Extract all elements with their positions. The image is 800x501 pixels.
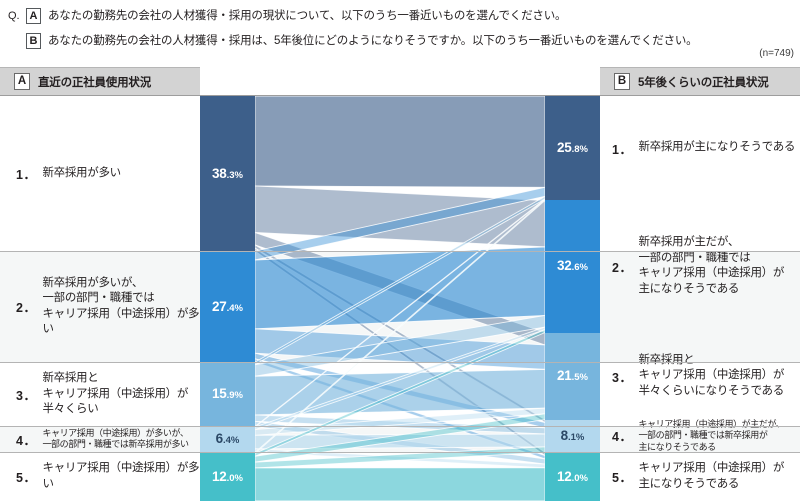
question-block: Q. A あなたの勤務先の会社の人材獲得・採用の現状について、以下のうち一番近い… [0, 0, 800, 64]
category-text-line: 半々くらい [42, 402, 188, 418]
question-row-a: Q. A あなたの勤務先の会社の人材獲得・採用の現状について、以下のうち一番近い… [8, 8, 566, 25]
category-text: キャリア採用（中途採用）が主になりそうである [638, 461, 784, 492]
category-text-line: 主になりそうである [638, 282, 784, 298]
category-text-line: キャリア採用（中途採用）が [638, 461, 784, 477]
chart-area: 38.3%27.4%15.9%6.4%12.0% 25.8%32.6%21.5%… [0, 95, 800, 501]
flow-ribbon-5-to-5 [255, 468, 545, 501]
category-label-left-4: 4．キャリア採用（中途採用）が多いが、一部の部門・職種では新卒採用が多い [16, 426, 200, 452]
bar-left-4[interactable]: 6.4% [200, 426, 255, 452]
question-text-a: あなたの勤務先の会社の人材獲得・採用の現状について、以下のうち一番近いものを選ん… [48, 8, 566, 24]
category-label-right-2: 2．新卒採用が主だが、一部の部門・職種ではキャリア採用（中途採用）が主になりそう… [612, 200, 800, 332]
question-badge-b: B [26, 33, 41, 49]
bar-left-1[interactable]: 38.3% [200, 96, 255, 251]
category-text-line: キャリア採用（中途採用）が [638, 266, 784, 282]
category-text-line: キャリア採用（中途採用）が主だが、 [638, 419, 784, 431]
category-text: キャリア採用（中途採用）が多い [42, 461, 200, 492]
flow-ribbon-1-to-1 [255, 96, 545, 187]
category-number: 1． [612, 139, 632, 158]
category-label-left-1: 1．新卒採用が多い [16, 96, 200, 251]
category-label-right-3: 3．新卒採用とキャリア採用（中途採用）が半々くらいになりそうである [612, 333, 800, 420]
bar-value-label: 15.9% [212, 385, 243, 403]
category-number: 2． [16, 297, 36, 316]
category-text-line: 一部の部門・職種では新卒採用が多い [42, 439, 188, 451]
category-number: 3． [16, 385, 36, 404]
category-text: 新卒採用とキャリア採用（中途採用）が半々くらい [42, 371, 188, 418]
bar-right-4[interactable]: 8.1% [545, 420, 600, 453]
category-text: キャリア採用（中途採用）が多いが、一部の部門・職種では新卒採用が多い [42, 428, 188, 451]
category-text: キャリア採用（中途採用）が主だが、一部の部門・職種では新卒採用が主になりそうであ… [638, 419, 784, 454]
question-prefix: Q. [8, 8, 22, 25]
bar-value-label: 6.4% [216, 430, 240, 448]
bar-value-label: 38.3% [212, 165, 243, 183]
category-number: 3． [612, 367, 632, 386]
row-separator [0, 452, 800, 453]
category-text: 新卒採用が主だが、一部の部門・職種ではキャリア採用（中途採用）が主になりそうであ… [638, 235, 784, 297]
bar-left-2[interactable]: 27.4% [200, 251, 255, 362]
row-separator [0, 426, 800, 427]
category-text: 新卒採用が主になりそうである [638, 140, 795, 156]
bar-value-label: 21.5% [557, 367, 588, 385]
bar-value-label: 27.4% [212, 298, 243, 316]
category-label-right-5: 5．キャリア採用（中途採用）が主になりそうである [612, 452, 800, 501]
category-number: 5． [16, 467, 36, 486]
category-text-line: 新卒採用が主になりそうである [638, 140, 795, 156]
category-label-left-3: 3．新卒採用とキャリア採用（中途採用）が半々くらい [16, 362, 200, 426]
category-text: 新卒採用とキャリア採用（中途採用）が半々くらいになりそうである [638, 353, 784, 400]
row-separator [0, 251, 800, 252]
category-text-line: 一部の部門・職種では [42, 291, 200, 307]
bar-right-3[interactable]: 21.5% [545, 333, 600, 420]
bar-value-label: 25.8% [557, 139, 588, 157]
category-number: 5． [612, 467, 632, 486]
bar-right-2[interactable]: 32.6% [545, 200, 600, 332]
category-text-line: キャリア採用（中途採用）が多いが、 [42, 428, 188, 440]
bar-value-label: 32.6% [557, 257, 588, 275]
category-text-line: キャリア採用（中途採用）が [42, 387, 188, 403]
category-text-line: キャリア採用（中途採用）が多い [42, 307, 200, 338]
category-number: 4． [16, 430, 36, 449]
category-text-line: キャリア採用（中途採用）が多い [42, 461, 200, 492]
bar-value-label: 12.0% [212, 468, 243, 486]
category-text-line: キャリア採用（中途採用）が [638, 368, 784, 384]
sankey-ribbons [255, 96, 545, 501]
category-text-line: 新卒採用と [42, 371, 188, 387]
tab-label-left: 直近の正社員使用状況 [38, 74, 151, 90]
category-number: 4． [612, 426, 632, 445]
category-label-left-5: 5．キャリア採用（中途採用）が多い [16, 452, 200, 501]
question-badge-a: A [26, 8, 41, 24]
bar-value-label: 8.1% [561, 427, 585, 445]
tab-badge-b: B [614, 73, 630, 90]
category-label-left-2: 2．新卒採用が多いが、一部の部門・職種ではキャリア採用（中途採用）が多い [16, 251, 200, 362]
bar-value-label: 12.0% [557, 468, 588, 486]
category-text-line: 新卒採用が主だが、 [638, 235, 784, 251]
category-text: 新卒採用が多い [42, 166, 120, 182]
tab-badge-a: A [14, 73, 30, 90]
category-text-line: 一部の部門・職種では新卒採用が [638, 430, 784, 442]
flow-ribbon-2-to-2 [255, 247, 545, 329]
category-text: 新卒採用が多いが、一部の部門・職種ではキャリア採用（中途採用）が多い [42, 276, 200, 338]
sankey-flow-area [255, 96, 545, 501]
category-label-right-4: 4．キャリア採用（中途採用）が主だが、一部の部門・職種では新卒採用が主になりそう… [612, 420, 800, 453]
tab-label-right: 5年後くらいの正社員状況 [638, 74, 769, 90]
category-number: 1． [16, 164, 36, 183]
category-text-line: 半々くらいになりそうである [638, 384, 784, 400]
question-text-b: あなたの勤務先の会社の人材獲得・採用は、5年後位にどのようになりそうですか。以下… [48, 33, 697, 49]
category-number: 2． [612, 257, 632, 276]
category-text-line: 新卒採用と [638, 353, 784, 369]
row-separator [0, 362, 800, 363]
bar-right-5[interactable]: 12.0% [545, 452, 600, 501]
sample-size-note: (n=749) [759, 48, 794, 59]
category-text-line: 主になりそうである [638, 477, 784, 493]
category-text-line: 一部の部門・職種では [638, 251, 784, 267]
question-row-b: B あなたの勤務先の会社の人材獲得・採用は、5年後位にどのようになりそうですか。… [8, 33, 697, 49]
category-text-line: 新卒採用が多いが、 [42, 276, 200, 292]
category-label-right-1: 1．新卒採用が主になりそうである [612, 96, 800, 200]
bar-left-3[interactable]: 15.9% [200, 362, 255, 426]
sankey-survey-figure: Q. A あなたの勤務先の会社の人材獲得・採用の現状について、以下のうち一番近い… [0, 0, 800, 501]
bar-left-5[interactable]: 12.0% [200, 452, 255, 501]
category-text-line: 新卒採用が多い [42, 166, 120, 182]
bar-right-1[interactable]: 25.8% [545, 96, 600, 200]
tab-right-header: B 5年後くらいの正社員状況 [600, 67, 800, 95]
tab-left-header: A 直近の正社員使用状況 [0, 67, 200, 95]
